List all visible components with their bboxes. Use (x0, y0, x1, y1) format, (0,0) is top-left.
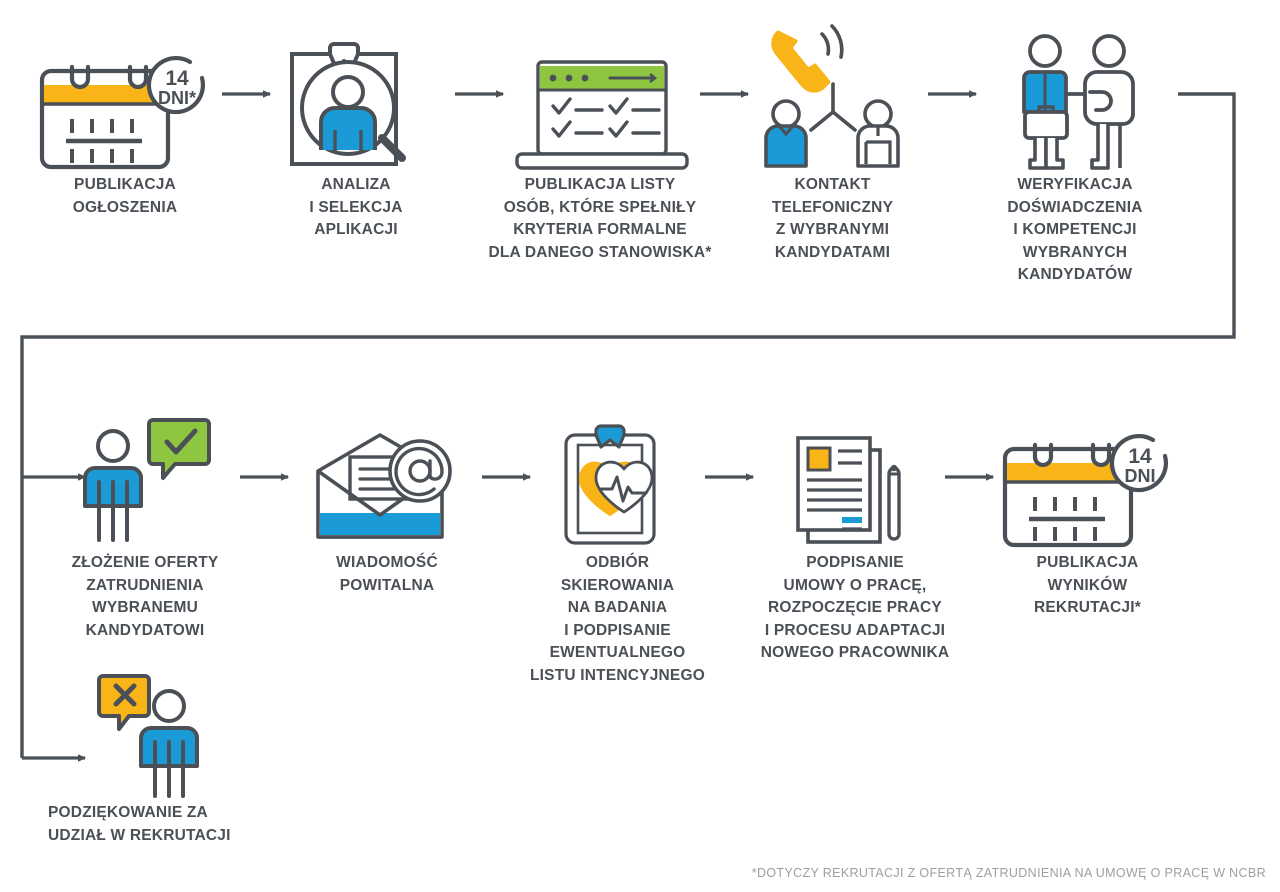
step-label: ZŁOŻENIE OFERTY ZATRUDNIENIA WYBRANEMU K… (45, 552, 245, 642)
step-label: WERYFIKACJA DOŚWIADCZENIA I KOMPETENCJI … (955, 174, 1195, 287)
step-label: PODPISANIE UMOWY O PRACĘ, ROZPOCZĘCIE PR… (740, 552, 970, 665)
step-publikacja-wynikow[interactable]: 14 DNI PUBLIKACJA WYNIKÓW REKRUTACJI* (980, 392, 1195, 620)
badge-days-word: DNI (1124, 466, 1155, 486)
step-odbior-skierowania[interactable]: ODBIÓR SKIEROWANIA NA BADANIA I PODPISAN… (500, 392, 735, 687)
job-interview-icon (955, 14, 1195, 174)
welcome-email-icon (282, 392, 492, 552)
step-analiza-i-selekcja[interactable]: ANALIZA I SELEKCJA APLIKACJI (252, 14, 460, 242)
step-label: WIADOMOŚĆ POWITALNA (282, 552, 492, 597)
step-weryfikacja-doswiadczenia[interactable]: WERYFIKACJA DOŚWIADCZENIA I KOMPETENCJI … (955, 14, 1195, 287)
step-wiadomosc-powitalna[interactable]: WIADOMOŚĆ POWITALNA (282, 392, 492, 597)
step-podpisanie-umowy[interactable]: PODPISANIE UMOWY O PRACĘ, ROZPOCZĘCIE PR… (740, 392, 970, 665)
step-kontakt-telefoniczny[interactable]: KONTAKT TELEFONICZNY Z WYBRANYMI KANDYDA… (735, 14, 930, 264)
step-label: PUBLIKACJA WYNIKÓW REKRUTACJI* (980, 552, 1195, 620)
step-label: PUBLIKACJA OGŁOSZENIA (20, 174, 230, 219)
medical-clipboard-heart-icon (500, 392, 735, 552)
person-rejected-icon (20, 672, 275, 802)
badge-days-number: 14 (1128, 445, 1152, 468)
calendar-14-days-icon: 14 DNI* (20, 14, 230, 174)
step-label: KONTAKT TELEFONICZNY Z WYBRANYMI KANDYDA… (735, 174, 930, 264)
phone-call-people-icon (735, 14, 930, 174)
application-review-icon (252, 14, 460, 174)
badge-days-number: 14 (165, 67, 189, 90)
badge-days-word: DNI* (158, 88, 196, 108)
step-publikacja-listy[interactable]: PUBLIKACJA LISTY OSÓB, KTÓRE SPEŁNIŁY KR… (470, 14, 730, 264)
step-podziekowanie-za-udzial[interactable]: PODZIĘKOWANIE ZA UDZIAŁ W REKRUTACJI (20, 672, 275, 847)
laptop-checklist-icon (470, 14, 730, 174)
step-label: PODZIĘKOWANIE ZA UDZIAŁ W REKRUTACJI (20, 802, 275, 847)
step-label: ODBIÓR SKIEROWANIA NA BADANIA I PODPISAN… (500, 552, 735, 687)
step-publikacja-ogloszenia[interactable]: 14 DNI* PUBLIKACJA OGŁOSZENIA (20, 14, 230, 219)
step-zlozenie-oferty[interactable]: ZŁOŻENIE OFERTY ZATRUDNIENIA WYBRANEMU K… (45, 392, 245, 642)
footnote-text: *DOTYCZY REKRUTACJI Z OFERTĄ ZATRUDNIENI… (752, 866, 1266, 880)
contract-documents-pen-icon (740, 392, 970, 552)
person-approved-icon (45, 392, 245, 552)
calendar-14-days-icon: 14 DNI (980, 392, 1195, 552)
step-label: PUBLIKACJA LISTY OSÓB, KTÓRE SPEŁNIŁY KR… (470, 174, 730, 264)
step-label: ANALIZA I SELEKCJA APLIKACJI (252, 174, 460, 242)
